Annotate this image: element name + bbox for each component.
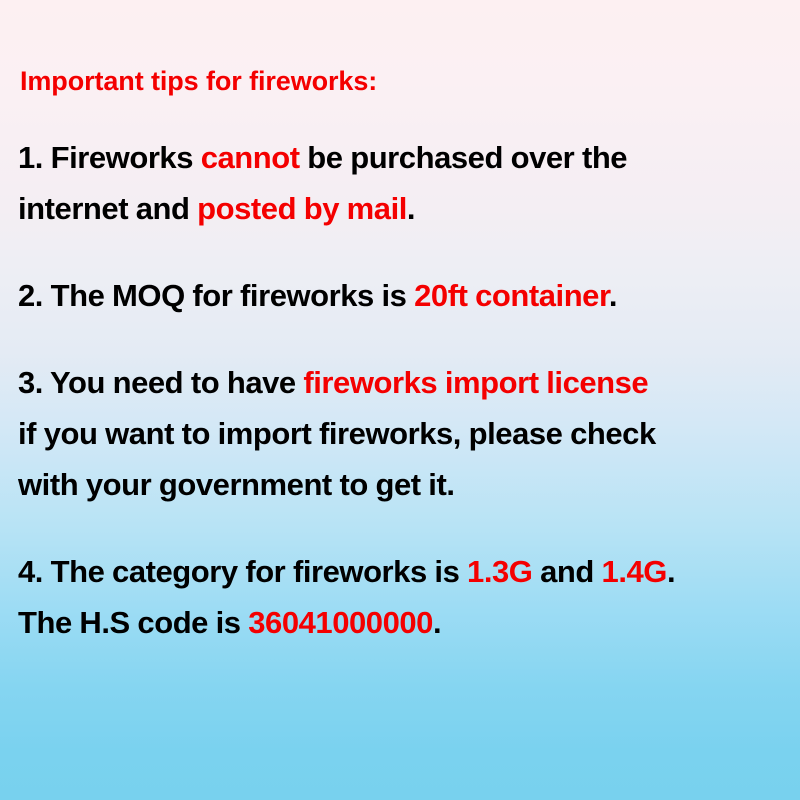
tip-highlight-text: posted by mail <box>197 191 407 226</box>
tip-text: The H.S code is <box>18 605 248 640</box>
tip-text: 4. The category for fireworks is <box>18 554 467 589</box>
tip-text: 3. You need to have <box>18 365 303 400</box>
tip-text: be purchased over the <box>300 140 627 175</box>
tip-line: 1. Fireworks cannot be purchased over th… <box>18 132 786 183</box>
tip-text: internet and <box>18 191 197 226</box>
tip-item: 4. The category for fireworks is 1.3G an… <box>18 546 786 648</box>
tip-text: . <box>433 605 441 640</box>
tip-text: 1. Fireworks <box>18 140 201 175</box>
tip-line: 3. You need to have fireworks import lic… <box>18 357 786 408</box>
tip-item: 1. Fireworks cannot be purchased over th… <box>18 132 786 234</box>
tip-item: 2. The MOQ for fireworks is 20ft contain… <box>18 270 786 321</box>
tip-text: 2. The MOQ for fireworks is <box>18 278 414 313</box>
tips-content-block: Important tips for fireworks: 1. Firewor… <box>18 64 786 648</box>
tip-line: 2. The MOQ for fireworks is 20ft contain… <box>18 270 786 321</box>
tip-text: with your government to get it. <box>18 467 455 502</box>
tip-highlight-text: 20ft container <box>414 278 609 313</box>
tip-line: if you want to import fireworks, please … <box>18 408 786 459</box>
page-title: Important tips for fireworks: <box>20 64 786 98</box>
tip-line: The H.S code is 36041000000. <box>18 597 786 648</box>
tips-list: 1. Fireworks cannot be purchased over th… <box>18 132 786 648</box>
tip-item: 3. You need to have fireworks import lic… <box>18 357 786 510</box>
tip-text: . <box>407 191 415 226</box>
tip-line: internet and posted by mail. <box>18 183 786 234</box>
tip-text: . <box>609 278 617 313</box>
tip-highlight-text: cannot <box>201 140 300 175</box>
tip-highlight-text: 1.4G <box>602 554 667 589</box>
fireworks-tips-poster: Important tips for fireworks: 1. Firewor… <box>0 0 800 800</box>
tip-line: 4. The category for fireworks is 1.3G an… <box>18 546 786 597</box>
tip-text: . <box>667 554 675 589</box>
tip-highlight-text: fireworks import license <box>303 365 648 400</box>
tip-text: if you want to import fireworks, please … <box>18 416 656 451</box>
tip-text: and <box>532 554 601 589</box>
tip-highlight-text: 36041000000 <box>248 605 433 640</box>
tip-highlight-text: 1.3G <box>467 554 532 589</box>
tip-line: with your government to get it. <box>18 459 786 510</box>
